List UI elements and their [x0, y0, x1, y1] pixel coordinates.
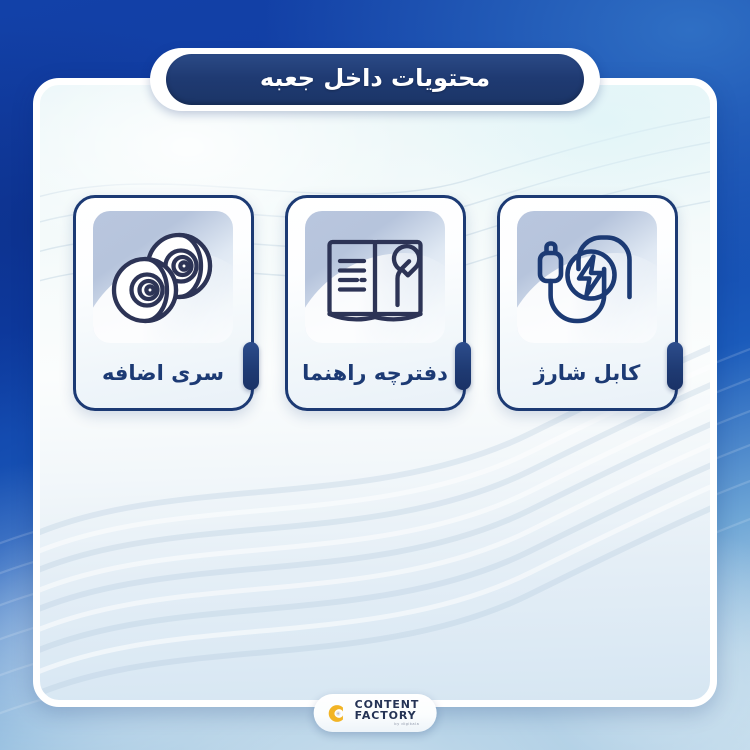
- logo-line-2: FACTORY: [355, 711, 420, 721]
- card-label-text: کابل شارژ: [534, 360, 641, 391]
- page-title: محتویات داخل جعبه: [150, 48, 600, 111]
- card-tab-handle: [243, 342, 259, 390]
- card-label-extra-ear-tips: سری اضافه: [76, 343, 251, 408]
- logo-subtitle: by digikala: [355, 723, 420, 726]
- icon-tile-charging-cable: [517, 211, 657, 343]
- card-tab-handle: [455, 342, 471, 390]
- title-text: محتویات داخل جعبه: [260, 63, 490, 93]
- manual-book-wrench-icon: [319, 225, 431, 329]
- title-inner-pill: محتویات داخل جعبه: [166, 54, 584, 105]
- lightning-bolt-icon: [579, 257, 602, 296]
- icon-tile-extra-ear-tips: [93, 211, 233, 343]
- card-charging-cable[interactable]: کابل شارژ: [497, 195, 678, 411]
- content-factory-c-icon: [327, 703, 348, 724]
- logo-text-block: CONTENT FACTORY by digikala: [355, 700, 420, 726]
- card-extra-ear-tips[interactable]: سری اضافه: [73, 195, 254, 411]
- icon-tile-user-manual: [305, 211, 445, 343]
- card-label-text: دفترچه راهنما: [302, 360, 448, 391]
- title-outer-pill: محتویات داخل جعبه: [150, 48, 600, 111]
- card-user-manual[interactable]: دفترچه راهنما: [285, 195, 466, 411]
- ear-tips-icon: [105, 224, 221, 330]
- charging-cable-icon: [529, 223, 645, 331]
- card-label-text: سری اضافه: [102, 360, 224, 391]
- box-contents-card-list: کابل شارژ: [0, 195, 750, 411]
- card-tab-handle: [667, 342, 683, 390]
- content-factory-logo: CONTENT FACTORY by digikala: [314, 694, 437, 732]
- infographic-canvas: محتویات داخل جعبه: [0, 0, 750, 750]
- card-label-user-manual: دفترچه راهنما: [288, 343, 463, 408]
- card-label-charging-cable: کابل شارژ: [500, 343, 675, 408]
